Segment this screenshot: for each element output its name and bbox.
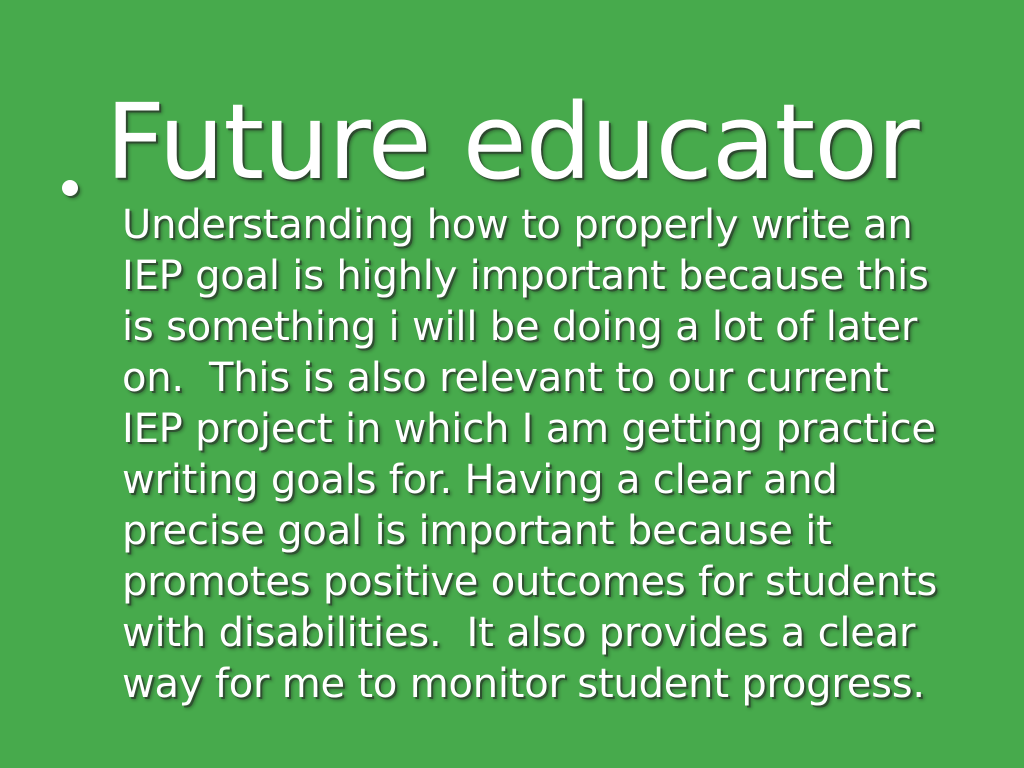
bullet-dot-icon [62,180,78,196]
bullet-list: Understanding how to properly write an I… [52,160,952,750]
bullet-item-text: Understanding how to properly write an I… [122,200,952,710]
slide-canvas: Future educator Understanding how to pro… [0,0,1024,768]
